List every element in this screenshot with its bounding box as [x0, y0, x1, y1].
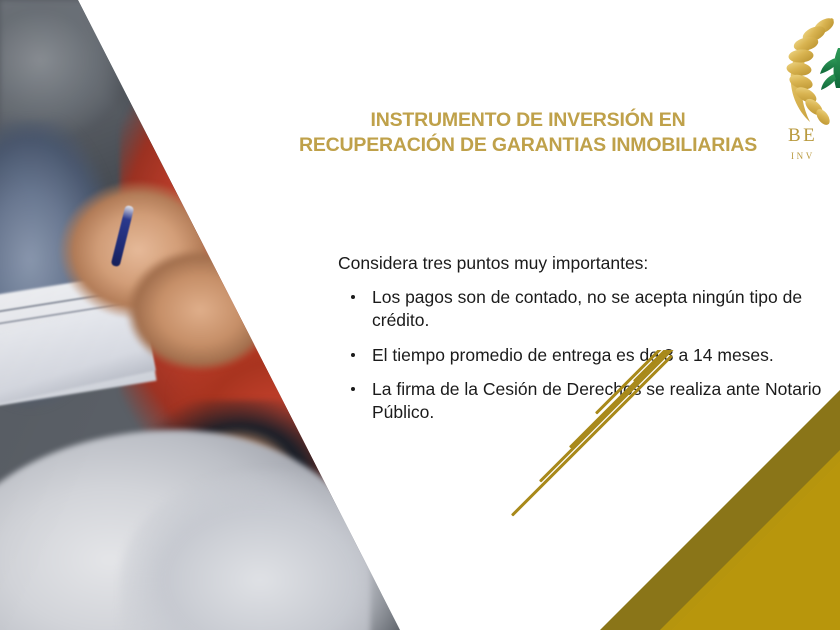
body-intro-text: Considera tres puntos muy importantes: — [338, 252, 836, 275]
slide-title: INSTRUMENTO DE INVERSIÓN EN RECUPERACIÓN… — [278, 108, 778, 159]
logo-text-sub: INV — [791, 151, 815, 161]
company-logo: BE INV — [770, 8, 840, 173]
bullet-text: Los pagos son de contado, no se acepta n… — [372, 287, 802, 330]
green-leaf-emblem-icon — [820, 48, 840, 90]
bullet-dot-icon — [351, 295, 355, 299]
logo-text-main: BE — [788, 125, 817, 147]
corner-gold-fill — [660, 450, 840, 630]
bullet-dot-icon — [351, 353, 355, 357]
bullet-dot-icon — [351, 387, 355, 391]
laurel-left-branch — [786, 15, 837, 127]
bullet-item: Los pagos son de contado, no se acepta n… — [338, 286, 836, 332]
gold-diagonal-corner — [420, 350, 840, 630]
title-line-2: RECUPERACIÓN DE GARANTIAS INMOBILIARIAS — [278, 133, 778, 158]
title-line-1: INSTRUMENTO DE INVERSIÓN EN — [278, 108, 778, 133]
laurel-wreath-icon — [770, 8, 840, 130]
presentation-slide: INSTRUMENTO DE INVERSIÓN EN RECUPERACIÓN… — [0, 0, 840, 630]
